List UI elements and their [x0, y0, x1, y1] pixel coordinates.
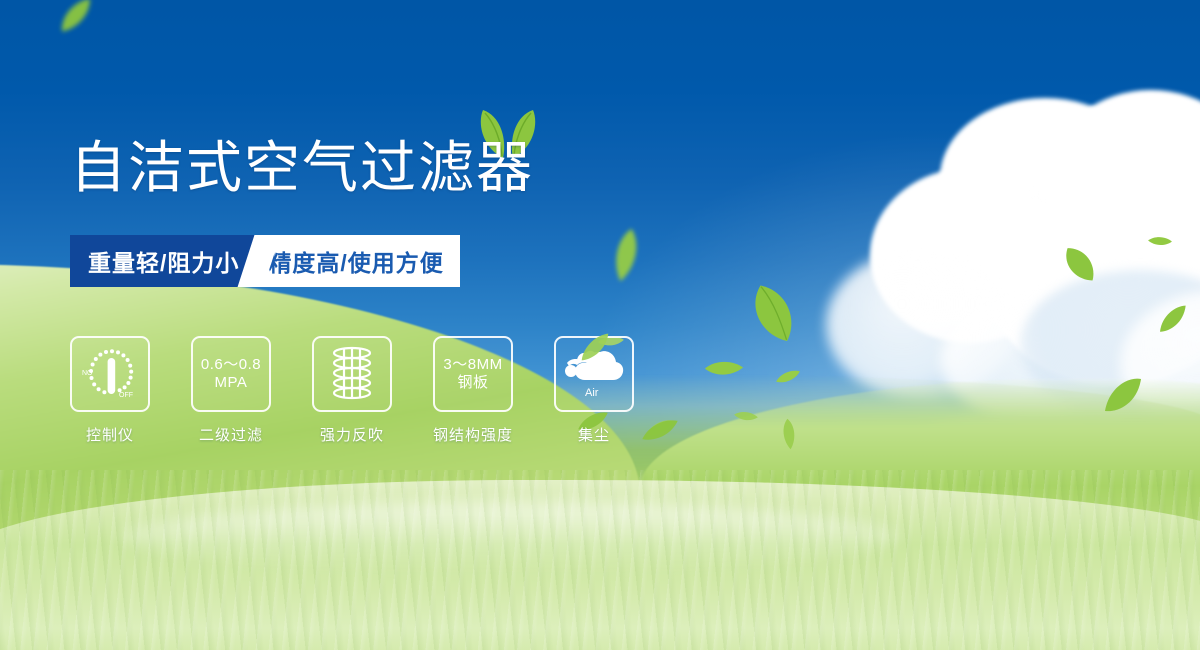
feature-item-steel-strength[interactable]: 3～8MM 钢板 钢结构强度: [433, 336, 513, 445]
svg-text:NO: NO: [82, 370, 93, 377]
backwash-filter-icon: [325, 345, 379, 403]
feature-icon-box: 0.6～0.8 MPA: [191, 336, 271, 412]
air-cloud-icon: Air: [563, 347, 625, 401]
subtitle-bar: 重量轻/阻力小 精度高/使用方便: [70, 235, 462, 287]
grass-foreground: [0, 480, 1200, 650]
feature-label: 强力反吹: [320, 424, 384, 445]
steel-value-line1: 3～8MM: [443, 356, 502, 374]
steel-value-line2: 钢板: [457, 374, 488, 392]
pressure-value-line2: MPA: [215, 374, 248, 392]
feature-item-dust-collection[interactable]: Air 集尘: [554, 336, 634, 445]
feature-icon-box: Air: [554, 336, 634, 412]
feature-item-strong-backwash[interactable]: 强力反吹: [312, 336, 392, 445]
feature-label: 钢结构强度: [433, 424, 513, 445]
feature-list: NO OFF 控制仪 0.6～0.8 MPA 二级过滤: [70, 336, 634, 445]
pressure-value-line1: 0.6～0.8: [201, 356, 261, 374]
feature-icon-box: 3～8MM 钢板: [433, 336, 513, 412]
page-title: 自洁式空气过滤器: [70, 140, 534, 196]
feature-label: 二级过滤: [199, 424, 263, 445]
feature-item-control-instrument[interactable]: NO OFF 控制仪: [70, 336, 150, 445]
air-label: Air: [585, 387, 599, 399]
feature-icon-box: [312, 336, 392, 412]
feature-label: 控制仪: [86, 424, 134, 445]
gauge-dial-icon: NO OFF: [79, 345, 141, 403]
feature-label: 集尘: [578, 424, 610, 445]
svg-text:OFF: OFF: [119, 392, 133, 399]
subtitle-left: 重量轻/阻力小: [70, 235, 255, 287]
product-banner: 自洁式空气过滤器 重量轻/阻力小 精度高/使用方便: [0, 0, 1200, 650]
feature-icon-box: NO OFF: [70, 336, 150, 412]
feature-item-two-stage-filter[interactable]: 0.6～0.8 MPA 二级过滤: [191, 336, 271, 445]
subtitle-right: 精度高/使用方便: [262, 235, 459, 287]
